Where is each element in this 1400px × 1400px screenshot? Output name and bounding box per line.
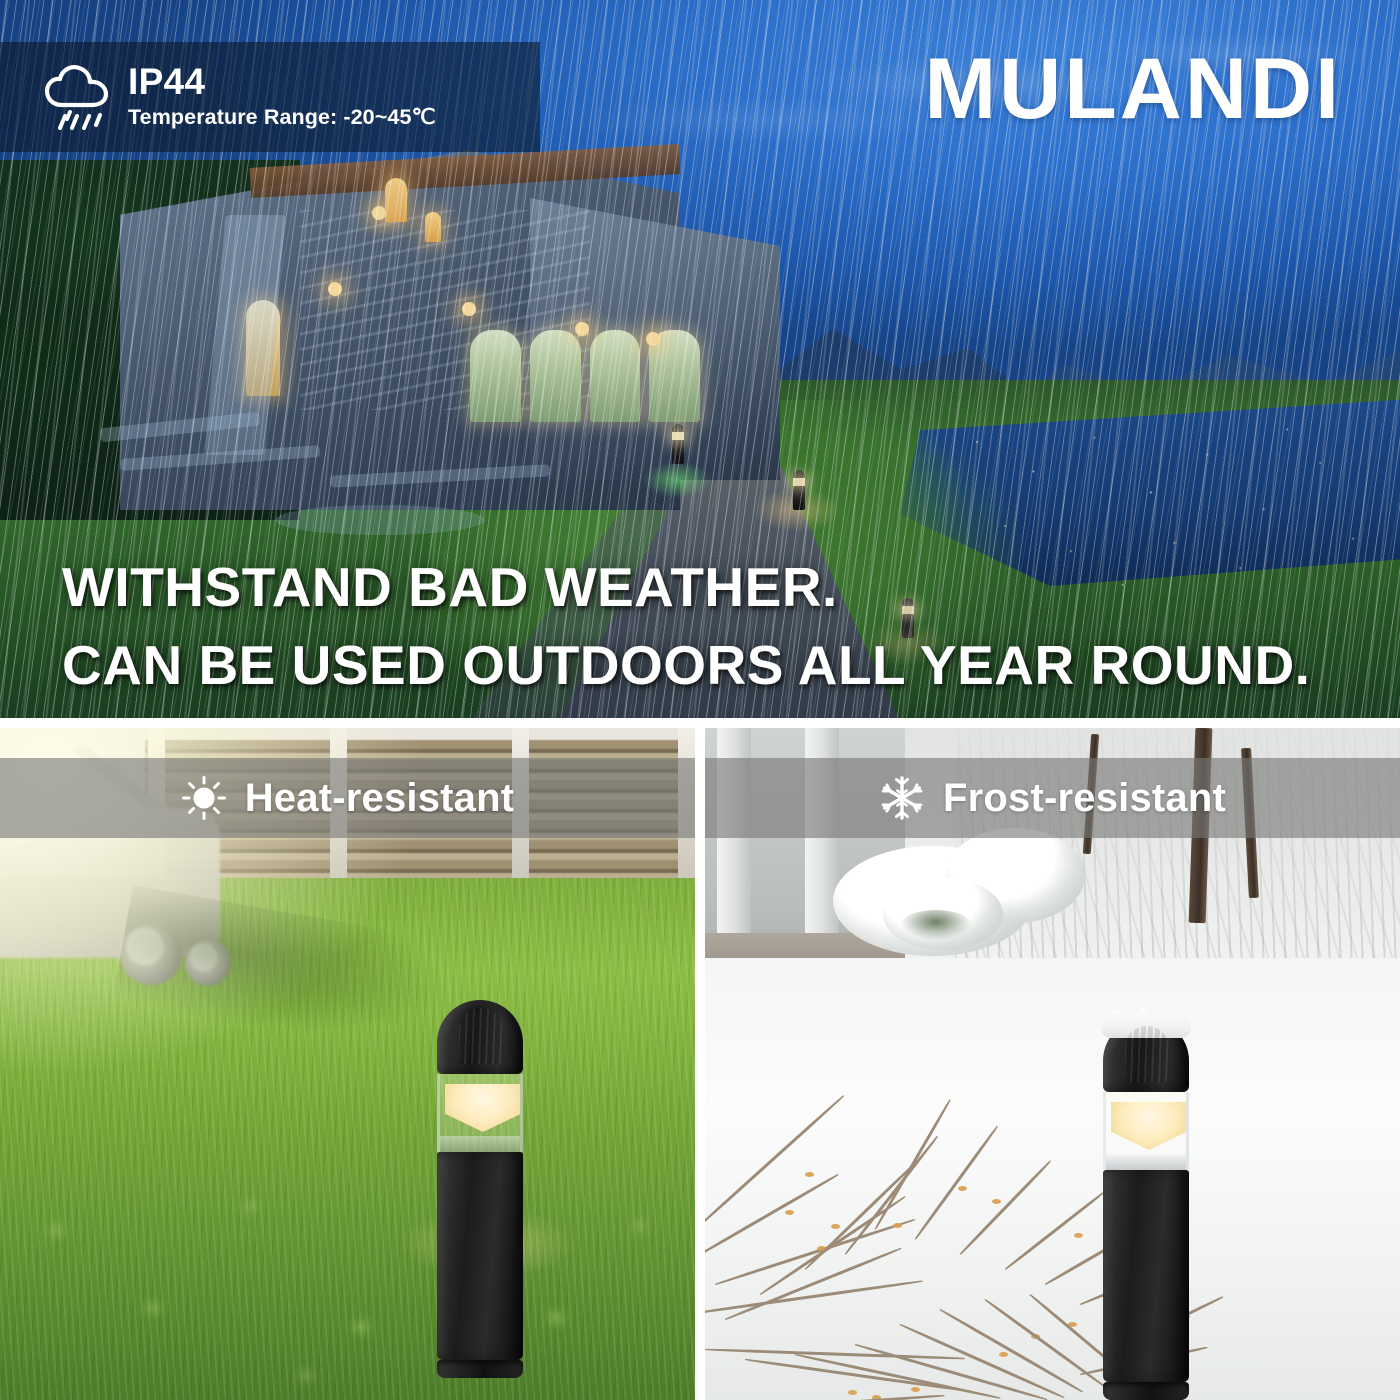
- wall-lamp: [575, 322, 589, 336]
- bollard-cap: [437, 1000, 523, 1074]
- shrub-foliage: [901, 910, 971, 940]
- bollard-light-product: [437, 1000, 523, 1378]
- wall-lamp: [372, 206, 386, 220]
- sun-icon: [181, 775, 227, 821]
- headline-line-1: WITHSTAND BAD WEATHER.: [62, 548, 1362, 626]
- heat-resistant-label: Heat-resistant: [245, 776, 515, 821]
- villa-arches: [470, 330, 700, 440]
- small-window: [425, 212, 441, 242]
- heat-label-band: Heat-resistant: [0, 758, 695, 838]
- dried-leaf: [785, 1210, 794, 1215]
- dried-leaf: [805, 1172, 814, 1177]
- headline-line-2: CAN BE USED OUTDOORS ALL YEAR ROUND.: [62, 626, 1362, 704]
- bollard-led-glow: [1111, 1102, 1187, 1150]
- bollard-glass-ring: [1103, 1092, 1189, 1170]
- wall-lamp: [646, 332, 660, 346]
- bollard-base-ring: [1103, 1382, 1189, 1400]
- bollard-led-glow: [445, 1084, 521, 1132]
- branch: [804, 1157, 921, 1270]
- patio-shadow: [275, 505, 485, 535]
- hero-rain-scene: IP44 Temperature Range: -20~45℃ MULANDI …: [0, 0, 1400, 718]
- bollard-body: [437, 1152, 523, 1360]
- dried-leaf: [893, 1223, 902, 1228]
- branch: [844, 1135, 938, 1255]
- branch: [914, 1125, 998, 1240]
- branch: [874, 1099, 951, 1230]
- ip-rating-badge: IP44 Temperature Range: -20~45℃: [0, 42, 540, 152]
- grass-bokeh: [0, 1158, 695, 1400]
- bollard-glass-base: [1106, 1154, 1189, 1170]
- dried-leaf: [992, 1199, 1001, 1204]
- snowflake-icon: [879, 775, 925, 821]
- panel-frost-resistant: Frost-resistant: [705, 728, 1400, 1400]
- frost-label-group: Frost-resistant: [879, 775, 1226, 821]
- feature-panels: Heat-resistant: [0, 718, 1400, 1400]
- branch: [705, 1280, 923, 1316]
- upper-window: [385, 178, 407, 222]
- garden-bollard-light: [672, 424, 684, 464]
- dried-leaf: [831, 1224, 840, 1229]
- dried-leaf: [848, 1390, 857, 1395]
- panel-heat-resistant: Heat-resistant: [0, 728, 695, 1400]
- garden-bollard-light: [793, 470, 805, 510]
- frost-resistant-label: Frost-resistant: [943, 776, 1226, 821]
- ip-rating-title: IP44: [128, 63, 436, 102]
- dried-leaf: [958, 1186, 967, 1191]
- rain-cloud-icon: [42, 61, 118, 133]
- bollard-glow-green: [642, 462, 712, 498]
- brand-logo: MULANDI: [925, 46, 1343, 132]
- bollard-cap: [1103, 1018, 1189, 1092]
- bollard-body: [1103, 1170, 1189, 1382]
- product-marketing-poster: IP44 Temperature Range: -20~45℃ MULANDI …: [0, 0, 1400, 1400]
- wall-lamp: [462, 302, 476, 316]
- bollard-base-ring: [437, 1360, 523, 1378]
- bollard-glass-ring: [437, 1074, 523, 1152]
- wall-lamp: [328, 282, 342, 296]
- dried-leaf: [1074, 1233, 1083, 1238]
- branch: [745, 1358, 973, 1392]
- headline: WITHSTAND BAD WEATHER. CAN BE USED OUTDO…: [62, 548, 1362, 704]
- branch: [705, 1348, 965, 1360]
- ip-badge-texts: IP44 Temperature Range: -20~45℃: [128, 63, 436, 132]
- arch: [470, 330, 521, 422]
- temperature-range-text: Temperature Range: -20~45℃: [128, 104, 436, 131]
- heat-label-group: Heat-resistant: [181, 775, 515, 821]
- frost-label-band: Frost-resistant: [705, 758, 1400, 838]
- bollard-light-product: [1103, 1018, 1189, 1400]
- dried-leaf: [911, 1387, 920, 1392]
- dried-leaf: [999, 1352, 1008, 1357]
- bollard-glass-base: [440, 1136, 523, 1152]
- arch: [530, 330, 581, 422]
- arch: [590, 330, 641, 422]
